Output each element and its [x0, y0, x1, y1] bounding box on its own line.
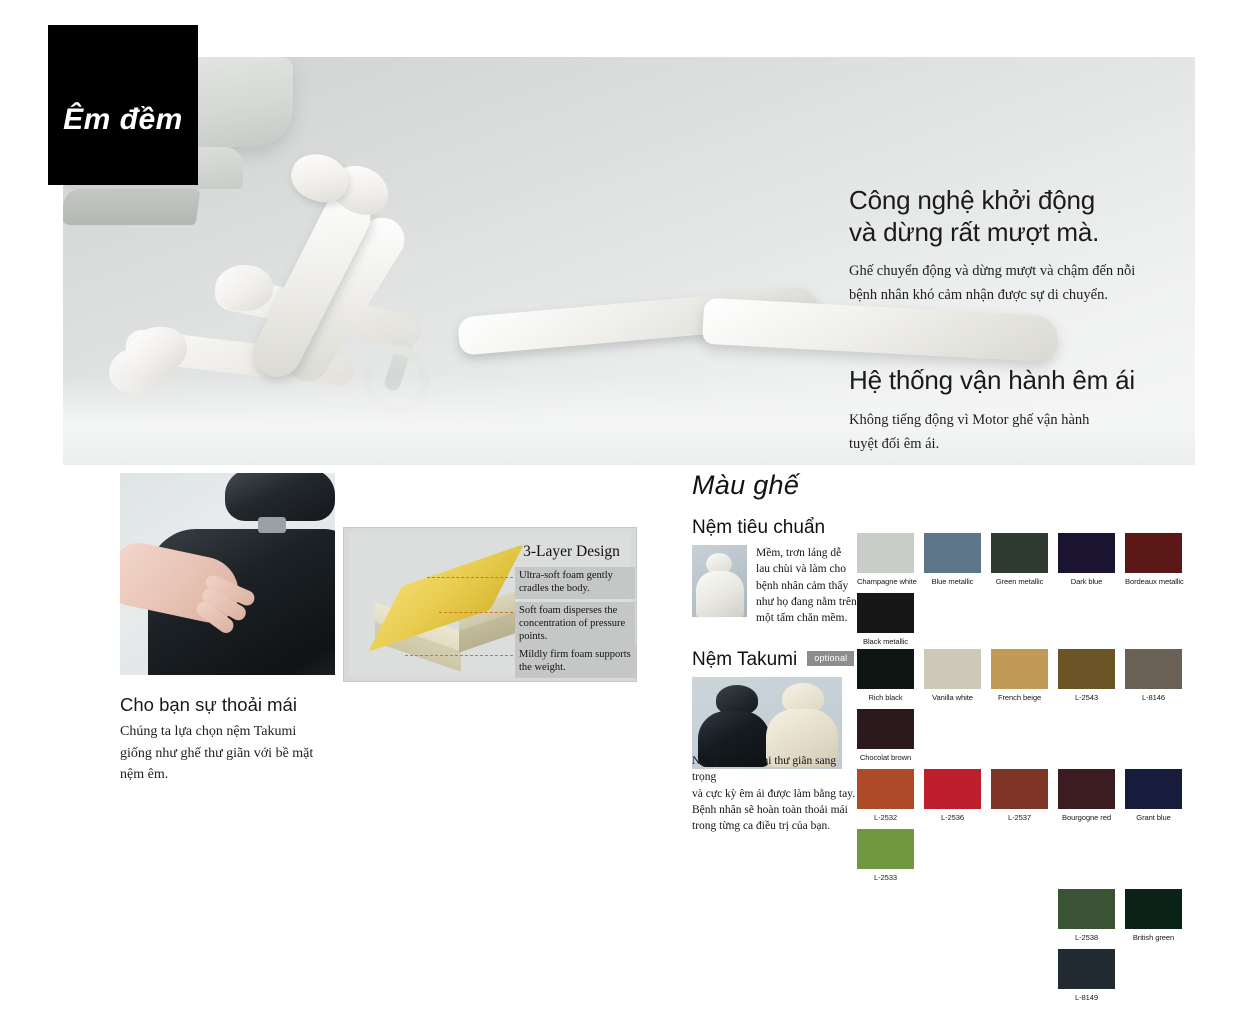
takumi-swatch-row-1: Rich blackVanilla whiteFrench beigeL-254… [857, 649, 1240, 769]
left-caption: Cho bạn sự thoải mái Chúng ta lựa chọn n… [120, 694, 360, 786]
color-swatch-chip[interactable] [924, 769, 981, 809]
hero-text-block-1: Công nghệ khởi động và dừng rất mượt mà.… [849, 185, 1195, 308]
color-swatch-label: L-2543 [1058, 693, 1115, 702]
color-swatch-chip[interactable] [1125, 769, 1182, 809]
color-swatch-chip[interactable] [991, 533, 1048, 573]
color-swatch-label: Vanilla white [924, 693, 981, 702]
hero-heading-2: Hệ thống vận hành êm ái [849, 365, 1195, 397]
color-swatch[interactable]: Black metallic [857, 593, 914, 646]
hero-body-2: Không tiếng động vì Motor ghế vận hành t… [849, 409, 1195, 457]
color-swatch[interactable]: L-2536 [924, 769, 981, 822]
color-swatch-label: Champagne white [857, 577, 914, 586]
color-swatch-chip[interactable] [991, 649, 1048, 689]
color-swatch[interactable]: L-8149 [1058, 949, 1115, 1002]
color-swatch-label: Black metallic [857, 637, 914, 646]
color-swatch-chip[interactable] [924, 533, 981, 573]
color-swatch[interactable]: Bordeaux metallic [1125, 533, 1182, 586]
color-swatch-label: Bourgogne red [1058, 813, 1115, 822]
color-swatch-chip[interactable] [857, 829, 914, 869]
color-swatch-chip[interactable] [1058, 949, 1115, 989]
standard-cushion-thumbnail [692, 545, 747, 617]
color-swatch-chip[interactable] [1125, 533, 1182, 573]
color-swatch[interactable]: French beige [991, 649, 1048, 702]
color-swatch-chip[interactable] [1058, 533, 1115, 573]
color-swatch-label: Chocolat brown [857, 753, 914, 762]
color-swatch[interactable]: Dark blue [1058, 533, 1115, 586]
color-swatch[interactable]: L-2538 [1058, 889, 1115, 942]
takumi-swatch-row-2: L-2532L-2536L-2537Bourgogne redGrant blu… [857, 769, 1240, 889]
color-swatch-label: L-8146 [1125, 693, 1182, 702]
three-layer-title: 3-Layer Design [509, 543, 634, 561]
standard-thumb-seat [696, 571, 744, 617]
takumi-swatch-grid: Rich blackVanilla whiteFrench beigeL-254… [857, 649, 1240, 1009]
chair-foot [63, 189, 201, 225]
three-layer-inner: 3-Layer Design Ultra-soft foam gently cr… [349, 533, 631, 676]
takumi-title-label: Nệm Takumi [692, 649, 797, 670]
color-swatch-label: French beige [991, 693, 1048, 702]
leader-line-2 [439, 612, 513, 613]
left-caption-heading: Cho bạn sự thoải mái [120, 694, 360, 716]
hero-title-tile: Êm đềm [48, 25, 198, 185]
photo-headrest-post [258, 517, 286, 533]
color-swatch-label: British green [1125, 933, 1182, 942]
color-swatch[interactable]: L-2533 [857, 829, 914, 882]
color-swatch[interactable]: Green metallic [991, 533, 1048, 586]
color-swatch[interactable]: British green [1125, 889, 1182, 942]
color-swatch-label: L-2538 [1058, 933, 1115, 942]
color-swatch-chip[interactable] [1058, 769, 1115, 809]
leader-line-3 [405, 655, 513, 656]
leader-line-1 [427, 577, 513, 578]
color-swatch-chip[interactable] [857, 533, 914, 573]
hero-title-label: Êm đềm [48, 103, 198, 137]
hero-banner: Công nghệ khởi động và dừng rất mượt mà.… [63, 57, 1195, 465]
hand-on-cushion-photo [120, 473, 335, 675]
color-swatch-chip[interactable] [1058, 889, 1115, 929]
color-swatch[interactable]: Blue metallic [924, 533, 981, 586]
color-swatch-chip[interactable] [991, 769, 1048, 809]
color-swatch[interactable]: Grant blue [1125, 769, 1182, 822]
color-swatch-label: L-2537 [991, 813, 1048, 822]
color-swatch-chip[interactable] [924, 649, 981, 689]
color-swatch-chip[interactable] [1125, 889, 1182, 929]
color-swatch-label: Blue metallic [924, 577, 981, 586]
color-swatch-chip[interactable] [1058, 649, 1115, 689]
color-swatch[interactable]: Bourgogne red [1058, 769, 1115, 822]
color-swatch-chip[interactable] [1125, 649, 1182, 689]
takumi-cushion-description: Nệm ghế Takumi thư giãn sang trọng và cự… [692, 753, 857, 835]
color-swatch[interactable]: L-2537 [991, 769, 1048, 822]
color-swatch-label: Green metallic [991, 577, 1048, 586]
color-swatch-chip[interactable] [857, 649, 914, 689]
standard-swatch-row-1: Champagne whiteBlue metallicGreen metall… [857, 533, 1240, 653]
hero-heading-1: Công nghệ khởi động và dừng rất mượt mà. [849, 185, 1195, 248]
color-swatch[interactable]: L-2543 [1058, 649, 1115, 702]
color-swatch-chip[interactable] [857, 709, 914, 749]
colors-section-title: Màu ghế [692, 470, 1202, 501]
color-swatch-label: Dark blue [1058, 577, 1115, 586]
color-swatch[interactable]: Chocolat brown [857, 709, 914, 762]
optional-badge: optional [807, 651, 854, 666]
color-swatch[interactable]: Rich black [857, 649, 914, 702]
cushion-diagram [371, 571, 521, 671]
color-swatch[interactable]: L-8146 [1125, 649, 1182, 702]
color-swatch-label: L-8149 [1058, 993, 1115, 1002]
takumi-swatch-row-3: L-2538British greenL-8149 [1058, 889, 1240, 1009]
color-swatch-label: Bordeaux metallic [1125, 577, 1182, 586]
standard-swatch-grid: Champagne whiteBlue metallicGreen metall… [857, 533, 1240, 653]
color-swatch-label: Grant blue [1125, 813, 1182, 822]
color-swatch-chip[interactable] [857, 769, 914, 809]
color-swatch[interactable]: Vanilla white [924, 649, 981, 702]
left-caption-body: Chúng ta lựa chọn nệm Takumi giống như g… [120, 721, 360, 786]
color-swatch-label: L-2532 [857, 813, 914, 822]
color-swatch[interactable]: L-2532 [857, 769, 914, 822]
photo-chair-headrest [225, 473, 335, 521]
color-swatch-label: Rich black [857, 693, 914, 702]
color-swatch[interactable]: Champagne white [857, 533, 914, 586]
color-swatch-label: L-2533 [857, 873, 914, 882]
color-swatch-label: L-2536 [924, 813, 981, 822]
standard-cushion-description: Mềm, trơn láng dễ lau chùi và làm cho bệ… [747, 545, 857, 627]
three-layer-design-panel: 3-Layer Design Ultra-soft foam gently cr… [343, 527, 637, 682]
layer-note-1: Ultra-soft foam gently cradles the body. [515, 567, 635, 599]
hero-body-1: Ghế chuyển động và dừng mượt và chậm đến… [849, 260, 1195, 308]
layer-note-3: Mildly firm foam supports the weight. [515, 646, 637, 678]
hero-text-block-2: Hệ thống vận hành êm ái Không tiếng động… [849, 365, 1195, 457]
color-swatch-chip[interactable] [857, 593, 914, 633]
layer-note-2: Soft foam disperses the concentration of… [515, 602, 635, 646]
